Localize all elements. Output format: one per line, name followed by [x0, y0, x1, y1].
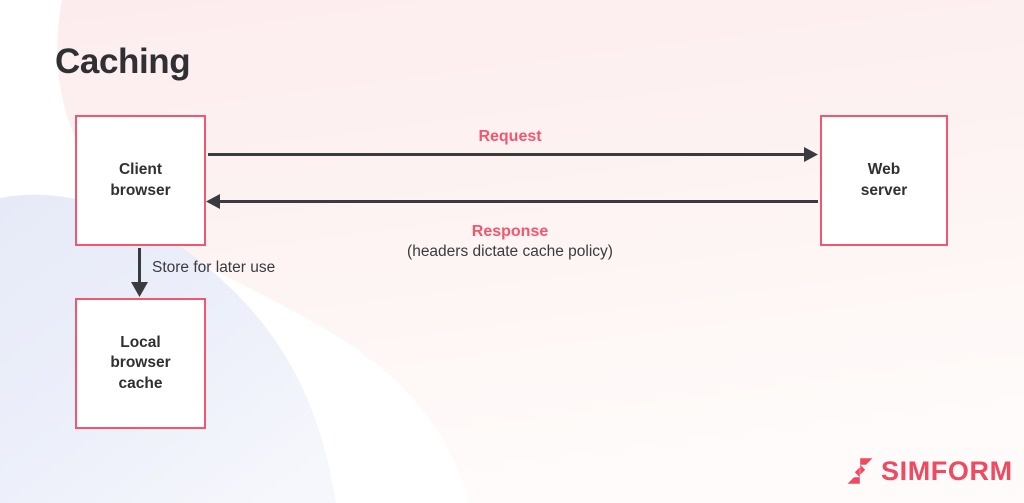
node-web-server-label: Web server [861, 160, 908, 201]
diagram-canvas: Caching Client browser Web server Local … [0, 0, 1024, 503]
brand-wordmark: SIMFORM [881, 458, 1013, 485]
edge-label-response-text: Response [355, 221, 665, 242]
node-web-server[interactable]: Web server [820, 115, 948, 246]
node-local-browser-cache[interactable]: Local browser cache [75, 298, 206, 429]
simform-logo-icon [845, 456, 875, 486]
node-local-browser-cache-label: Local browser cache [110, 333, 170, 394]
edge-label-store: Store for later use [152, 258, 372, 278]
edge-label-request-text: Request [410, 126, 610, 147]
edge-label-response-subtext: (headers dictate cache policy) [355, 242, 665, 262]
edge-response [206, 194, 818, 209]
edge-label-store-text: Store for later use [152, 258, 372, 278]
node-client-browser-label: Client browser [110, 160, 170, 201]
edge-label-request: Request [410, 126, 610, 147]
edge-store [131, 248, 148, 297]
node-client-browser[interactable]: Client browser [75, 115, 206, 246]
edge-label-response: Response (headers dictate cache policy) [355, 221, 665, 263]
edge-request [208, 147, 818, 162]
brand-logo: SIMFORM [845, 456, 1013, 486]
